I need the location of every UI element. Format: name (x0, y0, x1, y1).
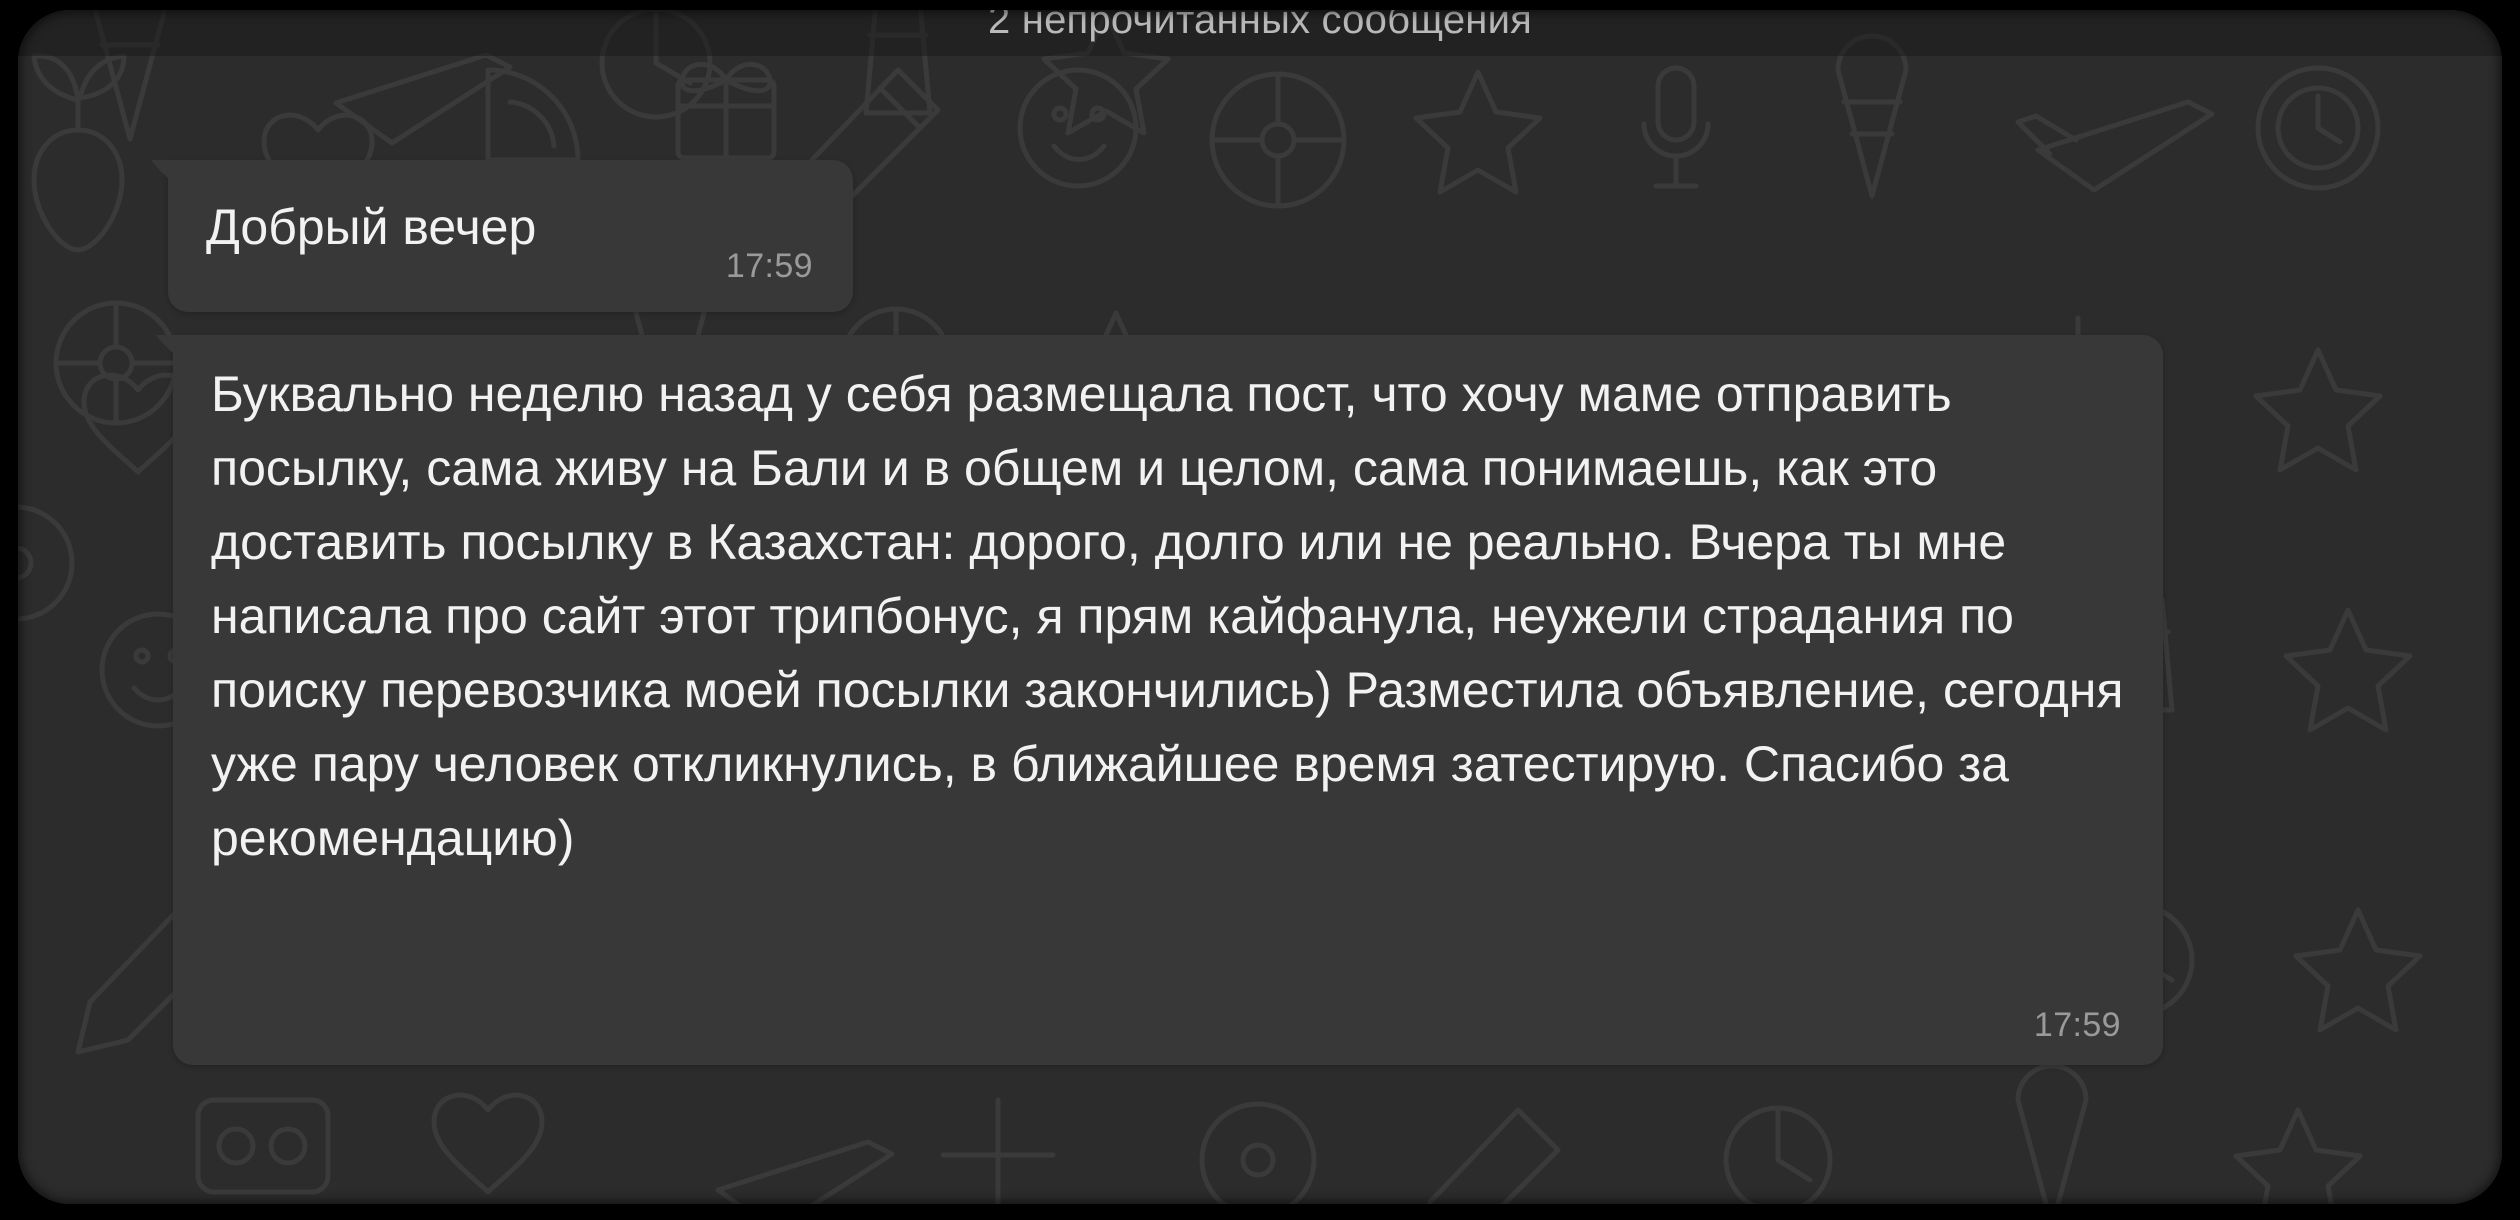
message-bubble-incoming[interactable]: Добрый вечер 17:59 (168, 160, 853, 312)
message-timestamp: 17:59 (2034, 1006, 2121, 1045)
phone-screen: 2 непрочитанных сообщения Добрый вечер 1… (18, 10, 2502, 1204)
device-frame: 2 непрочитанных сообщения Добрый вечер 1… (0, 0, 2520, 1220)
message-list: Добрый вечер 17:59 Буквально неделю наза… (18, 10, 2502, 1204)
bubble-tail-shape-icon (151, 160, 173, 194)
bubble-tail-shape-icon (156, 335, 178, 369)
message-timestamp: 17:59 (726, 247, 813, 286)
unread-divider-label: 2 непрочитанных сообщения (988, 10, 1532, 43)
message-bubble-incoming[interactable]: Буквально неделю назад у себя размещала … (173, 335, 2163, 1065)
bubble-tail-icon (151, 160, 173, 194)
unread-messages-divider: 2 непрочитанных сообщения (18, 10, 2502, 56)
bubble-tail-icon (156, 335, 178, 369)
message-text: Буквально неделю назад у себя размещала … (211, 357, 2129, 875)
message-text: Добрый вечер (206, 190, 536, 264)
